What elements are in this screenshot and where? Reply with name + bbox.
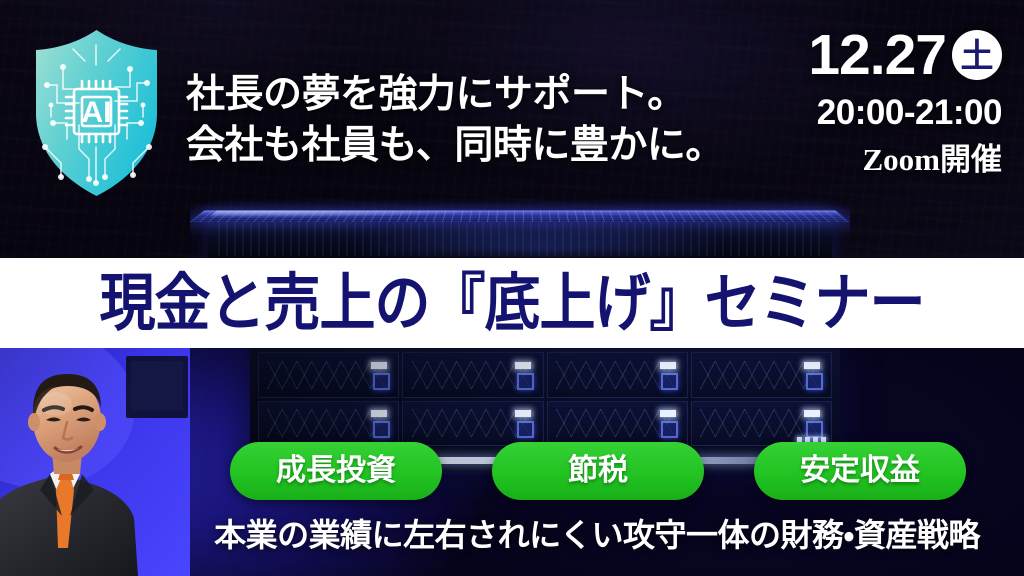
headline-band: 現金と売上の『底上げ』セミナー xyxy=(0,258,1024,348)
chip-label: AI xyxy=(82,96,112,129)
schedule-block: 12.27 土 20:00-21:00 Zoom開催 xyxy=(722,22,1002,177)
server-glow xyxy=(340,214,740,254)
top-copy-line-2: 会社も社員も、同時に豊かに。 xyxy=(186,120,706,171)
server-lid-image xyxy=(190,182,850,258)
tagline: 本業の業績に左右されにくい攻守一体の財務・資産戦略 xyxy=(0,518,1024,553)
event-time: 20:00-21:00 xyxy=(722,94,1002,133)
pill-tax-saving[interactable]: 節税 xyxy=(492,442,704,500)
pill-stable-income[interactable]: 安定収益 xyxy=(754,442,966,500)
pill-growth-investment[interactable]: 成長投資 xyxy=(230,442,442,500)
ai-shield-icon: AI xyxy=(27,27,166,199)
keyword-pills: 成長投資 節税 安定収益 xyxy=(222,442,1012,500)
event-venue: Zoom開催 xyxy=(722,143,1002,177)
pill-label: 成長投資 xyxy=(276,456,396,486)
pill-label: 安定収益 xyxy=(800,456,920,486)
pill-label: 節税 xyxy=(568,456,628,486)
event-date: 12.27 xyxy=(808,27,946,84)
weekday-badge: 土 xyxy=(952,30,1002,80)
bottom-blue-section: 成長投資 節税 安定収益 本業の業績に左右されにくい攻守一体の財務・資産戦略 xyxy=(0,348,1024,576)
page-title: 現金と売上の『底上げ』セミナー xyxy=(100,272,925,335)
top-copy-line-1: 社長の夢を強力にサポート。 xyxy=(186,69,706,120)
top-copy: 社長の夢を強力にサポート。 会社も社員も、同時に豊かに。 xyxy=(186,69,706,172)
date-row: 12.27 土 xyxy=(722,22,1002,88)
seminar-poster: AI 社長の夢を強力にサポート。 会社も社員も、同時に豊かに。 12.27 土 … xyxy=(0,0,1024,576)
top-dark-section: AI 社長の夢を強力にサポート。 会社も社員も、同時に豊かに。 12.27 土 … xyxy=(0,0,1024,258)
